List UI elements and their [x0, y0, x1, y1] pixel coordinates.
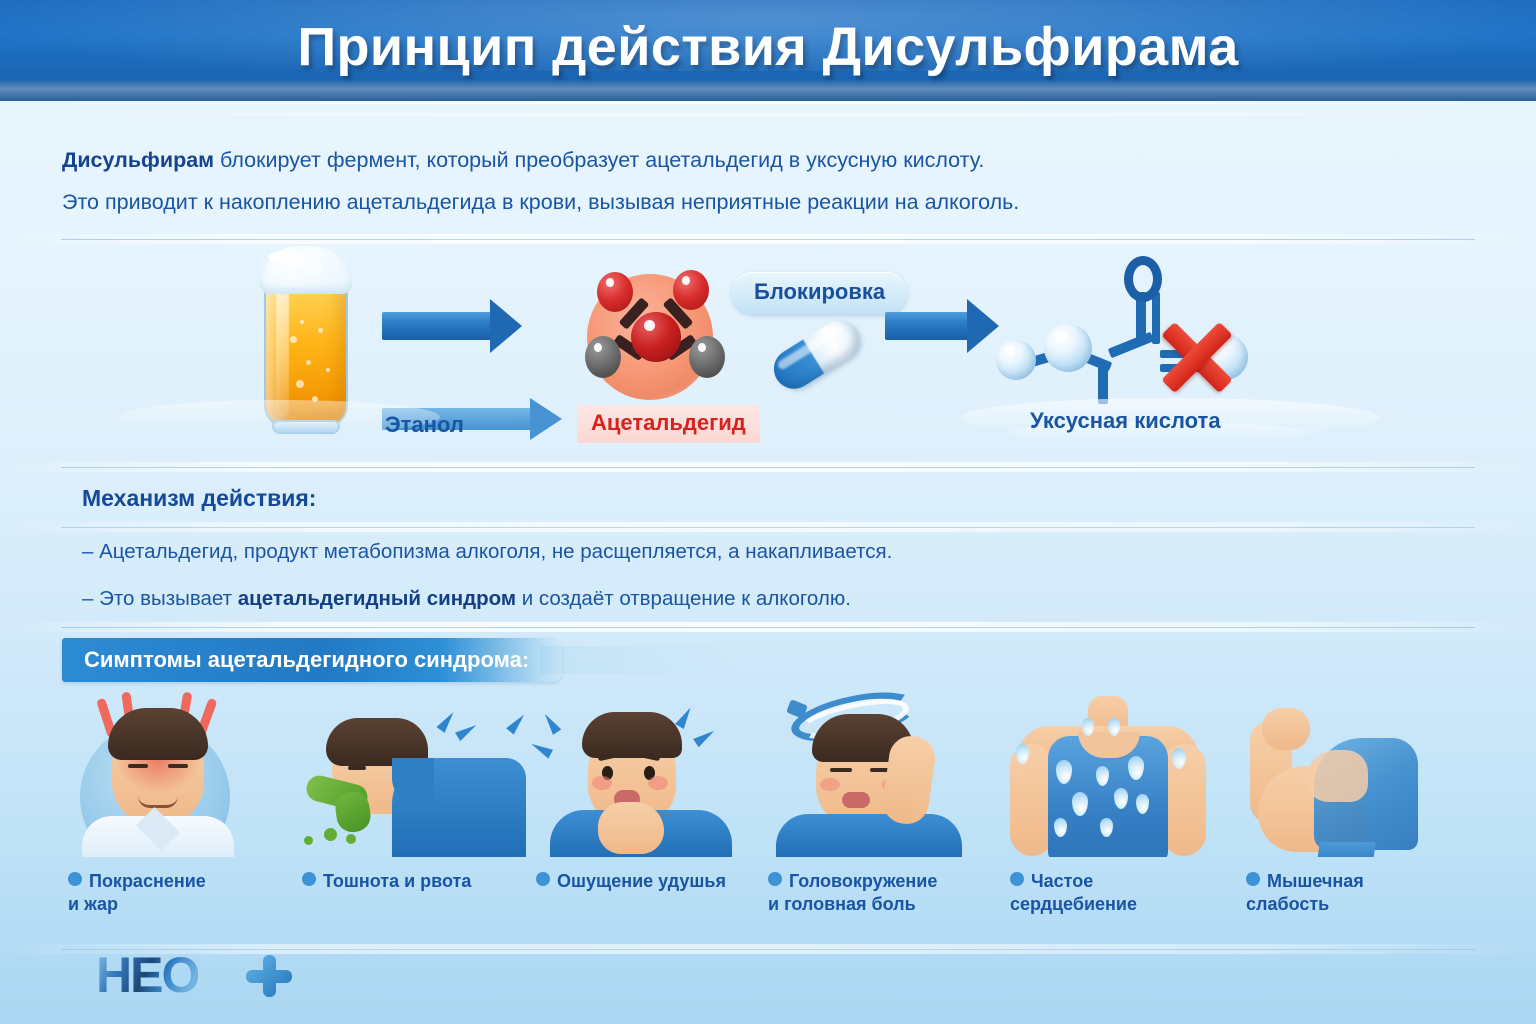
intro-drug-name: Дисульфирам — [62, 148, 214, 172]
symptoms-banner-label: Симптомы ацетальдегидного синдрома: — [84, 647, 529, 673]
mechanism-list: – Ацетальдегид, продукт метабопизма алко… — [82, 540, 1282, 633]
flexed-arm-art — [1240, 692, 1470, 857]
symptom-label-line1: Ошущение удушья — [557, 871, 726, 891]
atom-hydrogen-right — [689, 336, 725, 378]
bullet-dot — [68, 872, 82, 886]
mechanism-item-2: – Это вызывает ацетальдегидный синдром и… — [82, 587, 1282, 612]
header-underline-secondary — [0, 113, 1536, 116]
symptom-label-dizzy: Головокружение и головная боль — [768, 870, 992, 916]
capsule-pill-icon — [766, 314, 865, 397]
symptoms-row: Покраснение и жар Тошно — [62, 692, 1482, 942]
intro-line-1: Дисульфирам блокирует фермент, который п… — [62, 148, 1362, 173]
atom-c-left — [1044, 324, 1092, 372]
header-underline — [0, 101, 1536, 104]
page-title: Принцип действия Дисульфирама — [0, 16, 1536, 78]
atom-carbon-center — [631, 312, 681, 362]
symptom-label-line1: Тошнота и рвота — [323, 871, 471, 891]
beer-foam — [260, 246, 352, 294]
atom-oxygen-right — [673, 270, 709, 310]
mechanism-item-2-post: и создаёт отвращение к алкоголю. — [516, 587, 851, 610]
bullet-dot — [768, 872, 782, 886]
symptom-label-flushed: Покраснение и жар — [68, 870, 292, 916]
symptom-label-vomiting: Тошнота и рвота — [302, 870, 526, 893]
symptom-label-line1: Покраснение — [89, 871, 206, 891]
arrow-to-acetic-acid — [885, 312, 969, 340]
divider-symptoms — [0, 622, 1536, 632]
symptom-label-weakness: Мышечная слабость — [1246, 870, 1470, 916]
label-acetaldehyde: Ацетальдегид — [577, 405, 760, 443]
mechanism-item-2-highlight: ацетальдегидный синдром — [238, 587, 516, 610]
vomiting-person-art — [296, 692, 526, 857]
brand-logo: НЕО — [96, 946, 296, 1002]
symptom-card-dizzy: Головокружение и головная боль — [762, 692, 992, 942]
divider-mechanism — [0, 462, 1536, 472]
label-ethanol: Этанол — [385, 412, 464, 438]
logo-plus-icon — [246, 956, 292, 996]
intro-line-2: Это приводит к накоплению ацетальдегида … — [62, 190, 1362, 215]
sweating-torso-art — [1004, 692, 1234, 857]
atom-hydrogen-left — [585, 336, 621, 378]
flushed-face-art — [62, 692, 292, 857]
reaction-diagram: Блокировка Этанол — [0, 240, 1536, 455]
red-cross-icon — [1150, 310, 1242, 402]
acetaldehyde-molecule-icon — [565, 254, 745, 414]
bullet-dash-2: – — [82, 587, 99, 610]
symptom-label-line1: Частое — [1031, 871, 1093, 891]
symptom-card-weakness: Мышечная слабость — [1240, 692, 1470, 942]
intro-line-1-rest: блокирует фермент, который преобразует а… — [214, 148, 984, 172]
bullet-dot — [536, 872, 550, 886]
logo-text: НЕО — [96, 947, 198, 1003]
symptoms-banner-tail — [540, 646, 740, 674]
oxygen-ring — [1124, 256, 1162, 302]
page-header: Принцип действия Дисульфирама — [0, 0, 1536, 101]
header-wave-decoration — [0, 79, 1536, 101]
symptom-label-sweating: Частое сердцебиение — [1010, 870, 1234, 916]
symptom-label-line2: и головная боль — [768, 894, 916, 914]
bullet-dot — [1010, 872, 1024, 886]
symptom-label-choking: Ошущение удушья — [536, 870, 760, 893]
mechanism-title: Механизм действия: — [82, 485, 316, 512]
atom-oxygen-left — [597, 272, 633, 312]
mechanism-item-2-pre: Это вызывает — [99, 587, 238, 610]
bullet-dash-1: – — [82, 540, 99, 563]
blocking-badge: Блокировка — [732, 272, 907, 314]
dizzy-person-art — [762, 692, 992, 857]
bullet-dot — [1246, 872, 1260, 886]
intro-text-block: Дисульфирам блокирует фермент, который п… — [62, 148, 1362, 233]
infographic-page: Принцип действия Дисульфирама Дисульфира… — [0, 0, 1536, 1024]
label-acetic-acid: Уксусная кислота — [1030, 408, 1221, 434]
bullet-dot — [302, 872, 316, 886]
atom-h-far-left — [996, 340, 1036, 380]
choking-person-art — [530, 692, 760, 857]
symptom-label-line1: Головокружение — [789, 871, 937, 891]
symptoms-banner: Симптомы ацетальдегидного синдрома: — [62, 638, 562, 682]
arrow-ethanol-to-acetaldehyde — [382, 312, 492, 340]
symptom-card-sweating: Частое сердцебиение — [1004, 692, 1234, 942]
symptom-card-choking: Ошущение удушья — [530, 692, 760, 942]
symptom-label-line1: Мышечная — [1267, 871, 1364, 891]
symptom-label-line2: сердцебиение — [1010, 894, 1137, 914]
symptom-label-line2: слабость — [1246, 894, 1329, 914]
divider-mechanism-2 — [0, 522, 1536, 532]
symptom-card-vomiting: Тошнота и рвота — [296, 692, 526, 942]
symptom-card-flushed: Покраснение и жар — [62, 692, 292, 942]
acetic-acid-molecule-icon — [990, 258, 1280, 408]
mechanism-item-1-text: Ацетальдегид, продукт метабопизма алкого… — [99, 540, 892, 563]
mechanism-item-1: – Ацетальдегид, продукт метабопизма алко… — [82, 540, 1282, 565]
symptom-label-line2: и жар — [68, 894, 118, 914]
